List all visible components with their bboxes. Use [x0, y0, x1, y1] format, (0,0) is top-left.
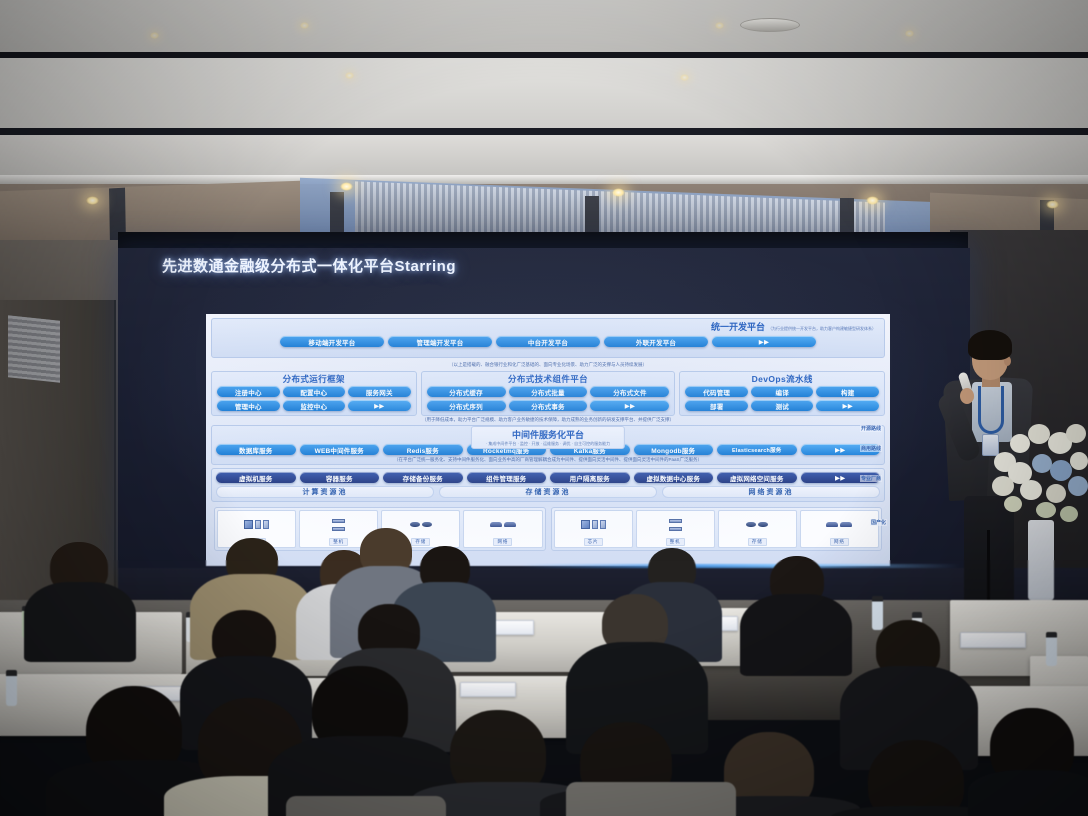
hardware-cell-network-2: 网络: [800, 510, 879, 548]
pill-management-center[interactable]: 管理中心: [217, 400, 280, 411]
flower-icon: [1066, 424, 1086, 443]
ceiling-panel-upper: [0, 0, 1088, 52]
water-bottle: [6, 670, 17, 706]
ceiling-panel-lower: [0, 135, 1088, 175]
ceiling-spotlight-icon: [715, 22, 724, 29]
slide-diagram: 统一开发平台 （为行业提供统一开发平台，助力客户构建敏捷型研发体系） 移动端开发…: [206, 314, 890, 566]
hardware-cell-server-2: 整机: [636, 510, 715, 548]
pill-distributed-file[interactable]: 分布式文件: [590, 386, 669, 397]
unified-platform-note: （为行业提供统一开发平台，助力客户构建敏捷型研发体系）: [768, 326, 876, 332]
pill-mobile-dev-platform[interactable]: 移动端开发平台: [280, 336, 384, 347]
foliage-icon: [1036, 502, 1056, 518]
name-card: [460, 682, 516, 697]
server-icon: [637, 511, 714, 538]
ceiling-spotlight-icon: [345, 72, 354, 79]
pill-redis-service[interactable]: Redis服务: [383, 444, 463, 455]
pool-compute: 计算资源池: [216, 486, 434, 498]
capability-columns: 分布式运行框架 注册中心 配置中心 服务网关 管理中心 监控中心 ▶▶ 分布式技…: [211, 371, 885, 416]
hardware-label-chip-2: 芯片: [584, 538, 603, 546]
middleware-subtitle: · 集成中间件平台 · 监控 · 开放 · 运维服务 · 调优 · 自主可控的服…: [486, 441, 610, 447]
audience-area: 因 耿: [0, 590, 1088, 816]
pool-network: 网络资源池: [662, 486, 880, 498]
cloud-resource-block: 虚拟机服务 容器服务 存储备份服务 组件管理服务 用户隔离服务 虚拟数据中心服务…: [211, 468, 885, 502]
unified-platform-caption: （以上是搭载的、融合银行业和化广泛基础的、面向专业化场景、助力广泛的支撑与人员持…: [211, 361, 885, 369]
ceiling-spotlight-icon: [680, 74, 689, 81]
side-label-opensource: 开源路线: [860, 425, 882, 432]
pill-compile[interactable]: 编译: [751, 386, 814, 397]
flower-icon-blue: [1032, 454, 1052, 473]
column-title-runtime: 分布式运行框架: [215, 373, 413, 385]
audience-shoulders: [968, 770, 1088, 816]
flower-icon: [1020, 480, 1042, 500]
pill-devops-more[interactable]: ▶▶: [816, 400, 879, 411]
conference-presentation-photo: 先进数通金融级分布式一体化平台Starring 统一开发平台 （为行业提供统一开…: [0, 0, 1088, 816]
pill-components-more[interactable]: ▶▶: [590, 400, 669, 411]
ceiling-spotlight-icon: [150, 32, 159, 39]
pill-distributed-transaction[interactable]: 分布式事务: [509, 400, 588, 411]
middleware-caption: （在平台广泛统一服务化、支持中间件服务化、面向业务中高的厂商管理解耦合成为中间件…: [212, 457, 884, 464]
pill-midplatform-dev-platform[interactable]: 中台开发平台: [496, 336, 600, 347]
foliage-icon: [1060, 506, 1078, 522]
column-title-components: 分布式技术组件平台: [425, 373, 672, 385]
ceiling-air-vent-icon: [740, 18, 800, 32]
pill-registry-center[interactable]: 注册中心: [217, 386, 280, 397]
pill-database-service[interactable]: 数据库服务: [216, 444, 296, 455]
presenter-hair: [968, 330, 1012, 360]
pill-distributed-sequence[interactable]: 分布式序列: [427, 400, 506, 411]
hardware-group-right: 芯片 整机 存储 网络: [551, 507, 883, 551]
pill-config-center[interactable]: 配置中心: [283, 386, 346, 397]
audience-head: [868, 740, 964, 816]
side-label-vendor: 专业厂商: [860, 475, 882, 482]
middleware-title: 中间件服务化平台: [486, 428, 610, 441]
hardware-label-server-2: 整机: [666, 538, 685, 546]
hardware-block: 芯片 整机 存储 网络: [211, 505, 885, 553]
pill-vm-service[interactable]: 虚拟机服务: [216, 472, 296, 483]
chair-back: [566, 782, 736, 816]
pill-storage-backup-service[interactable]: 存储备份服务: [383, 472, 463, 483]
ceiling: [0, 0, 1088, 215]
ceiling-spotlight-icon: [866, 196, 879, 205]
pill-deploy[interactable]: 部署: [685, 400, 748, 411]
audience-shoulders: [24, 582, 136, 662]
wall-vent-grille-icon: [8, 315, 60, 382]
hardware-cell-network: 网络: [463, 510, 542, 548]
runtime-items: 注册中心 配置中心 服务网关 管理中心 监控中心 ▶▶: [215, 385, 413, 412]
pill-service-gateway[interactable]: 服务网关: [348, 386, 411, 397]
chair-back: [286, 796, 446, 816]
pill-user-isolation-service[interactable]: 用户隔离服务: [550, 472, 630, 483]
water-bottle: [1046, 632, 1057, 666]
flower-icon: [1010, 434, 1030, 453]
flower-vase: [1028, 520, 1054, 600]
hardware-label-network: 网络: [493, 538, 512, 546]
ceiling-edge-trim: [0, 175, 1088, 184]
ceiling-spotlight-icon: [612, 188, 625, 197]
chip-icon: [218, 511, 295, 538]
flower-icon: [992, 476, 1014, 496]
unified-platform-title: 统一开发平台: [711, 320, 765, 333]
devops-items: 代码管理 编译 构建 部署 测试 ▶▶: [683, 385, 881, 412]
ceiling-spotlight-icon: [86, 196, 99, 205]
audience-member: [22, 542, 132, 662]
unified-platform-header: 统一开发平台 （为行业提供统一开发平台，助力客户构建敏捷型研发体系）: [711, 320, 876, 333]
column-distributed-components: 分布式技术组件平台 分布式缓存 分布式批量 分布式文件 分布式序列 分布式事务 …: [421, 371, 676, 416]
columns-caption: （用于降低成本，助力平台广泛规模、助力客户业务敏捷的技术保障，助力成熟的业务创新…: [211, 416, 885, 424]
pill-elasticsearch-service[interactable]: Elasticsearch服务: [717, 444, 797, 455]
column-distributed-runtime: 分布式运行框架 注册中心 配置中心 服务网关 管理中心 监控中心 ▶▶: [211, 371, 417, 416]
ceiling-panel-mid: [0, 58, 1088, 128]
pill-mongodb-service[interactable]: Mongodb服务: [634, 444, 714, 455]
hardware-cell-storage-2: 存储: [718, 510, 797, 548]
foliage-icon: [1004, 496, 1022, 512]
pill-monitoring-center[interactable]: 监控中心: [283, 400, 346, 411]
pill-distributed-batch[interactable]: 分布式批量: [509, 386, 588, 397]
pill-unified-more[interactable]: ▶▶: [712, 336, 816, 347]
unified-platform-block: 统一开发平台 （为行业提供统一开发平台，助力客户构建敏捷型研发体系） 移动端开发…: [211, 318, 885, 358]
pill-virtual-datacenter-service[interactable]: 虚拟数据中心服务: [634, 472, 714, 483]
ceiling-spotlight-icon: [905, 30, 914, 37]
flower-icon: [1028, 424, 1050, 444]
resource-pools: 计算资源池 存储资源池 网络资源池: [212, 484, 884, 501]
flower-icon: [1046, 484, 1066, 503]
pill-admin-dev-platform[interactable]: 管理端开发平台: [388, 336, 492, 347]
hardware-groups: 芯片 整机 存储 网络: [211, 505, 885, 553]
hardware-label-network-2: 网络: [830, 538, 849, 546]
chip-icon: [555, 511, 632, 538]
slide-title: 先进数通金融级分布式一体化平台Starring: [162, 255, 456, 276]
ceiling-spotlight-icon: [340, 182, 353, 191]
ceiling-reveal-2: [0, 128, 1088, 135]
storage-icon: [719, 511, 796, 538]
hardware-cell-chip-2: 芯片: [554, 510, 633, 548]
pill-component-management-service[interactable]: 组件管理服务: [467, 472, 547, 483]
side-label-localization: 国产化: [870, 519, 887, 526]
middleware-block: 中间件服务化平台 · 集成中间件平台 · 监控 · 开放 · 运维服务 · 调优…: [211, 425, 885, 465]
network-icon: [464, 511, 541, 538]
pill-external-dev-platform[interactable]: 外联开发平台: [604, 336, 708, 347]
pill-virtual-network-service[interactable]: 虚拟网络空间服务: [717, 472, 797, 483]
projection-screen: 先进数通金融级分布式一体化平台Starring 统一开发平台 （为行业提供统一开…: [118, 248, 970, 568]
audience-member-front: [968, 708, 1088, 816]
column-devops-pipeline: DevOps流水线 代码管理 编译 构建 部署 测试 ▶▶: [679, 371, 885, 416]
component-items: 分布式缓存 分布式批量 分布式文件 分布式序列 分布式事务 ▶▶: [425, 385, 672, 412]
audience-member: [740, 556, 850, 676]
cloud-items: 虚拟机服务 容器服务 存储备份服务 组件管理服务 用户隔离服务 虚拟数据中心服务…: [212, 469, 884, 484]
pill-web-middleware-service[interactable]: WEB中间件服务: [300, 444, 380, 455]
pill-build[interactable]: 构建: [816, 386, 879, 397]
flower-icon-blue: [1050, 460, 1072, 481]
pill-code-management[interactable]: 代码管理: [685, 386, 748, 397]
audience-shoulders: [740, 594, 852, 676]
hardware-label-storage-2: 存储: [748, 538, 767, 546]
pill-container-service[interactable]: 容器服务: [300, 472, 380, 483]
pill-runtime-more[interactable]: ▶▶: [348, 400, 411, 411]
column-title-devops: DevOps流水线: [683, 373, 881, 385]
presenter-hand: [960, 388, 974, 404]
network-icon: [801, 511, 878, 538]
pill-test[interactable]: 测试: [751, 400, 814, 411]
pool-storage: 存储资源池: [439, 486, 657, 498]
flower-icon-blue: [1068, 476, 1088, 496]
ceiling-spotlight-icon: [1046, 200, 1059, 209]
middleware-header: 中间件服务化平台 · 集成中间件平台 · 监控 · 开放 · 运维服务 · 调优…: [471, 426, 625, 449]
flower-icon: [1070, 452, 1088, 470]
pill-distributed-cache[interactable]: 分布式缓存: [427, 386, 506, 397]
ceiling-spotlight-icon: [300, 22, 309, 29]
side-label-commercial: 商用路线: [860, 445, 882, 452]
